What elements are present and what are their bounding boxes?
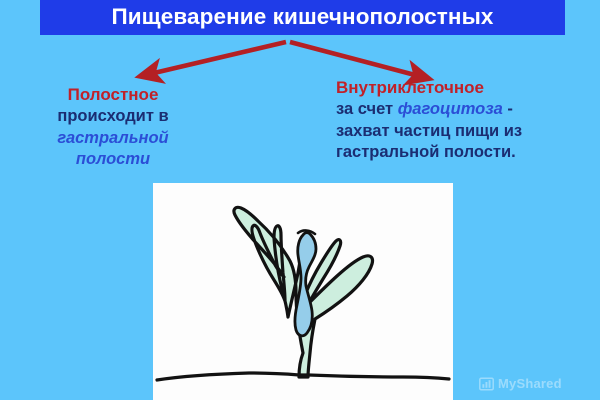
ground-line [157,373,449,380]
right-text-block: Внутриклеточное за счет фагоцитоза - зах… [336,77,588,163]
left-line-3: гастральной [22,128,204,149]
slide-title-banner: Пищеварение кишечнополостных [40,0,565,35]
page-title: Пищеварение кишечнополостных [111,6,493,29]
right-line-2-term: фагоцитоза [398,100,503,118]
watermark-label: MyShared [498,376,562,391]
left-heading: Полостное [22,84,204,106]
right-line-2-prefix: за счет [336,100,398,118]
arrow-to-vnutrikletochnoe [290,42,415,75]
slide-canvas: Пищеварение кишечнополостных Полостное п… [0,0,600,400]
left-line-2: происходит в [22,106,204,127]
right-heading: Внутриклеточное [336,77,588,99]
illustration-panel [153,183,453,400]
chart-bar-icon [479,377,494,391]
hydra-digestion-diagram [153,183,453,400]
arrow-to-polostnoe [154,42,286,73]
right-line-3: захват частиц пищи из [336,121,588,142]
right-line-2-suffix: - [503,100,513,118]
right-line-2: за счет фагоцитоза - [336,99,588,120]
right-line-4: гастральной полости. [336,142,588,163]
left-text-block: Полостное происходит в гастральной полос… [22,84,204,170]
watermark: MyShared [479,376,562,391]
left-line-4: полости [22,149,204,170]
